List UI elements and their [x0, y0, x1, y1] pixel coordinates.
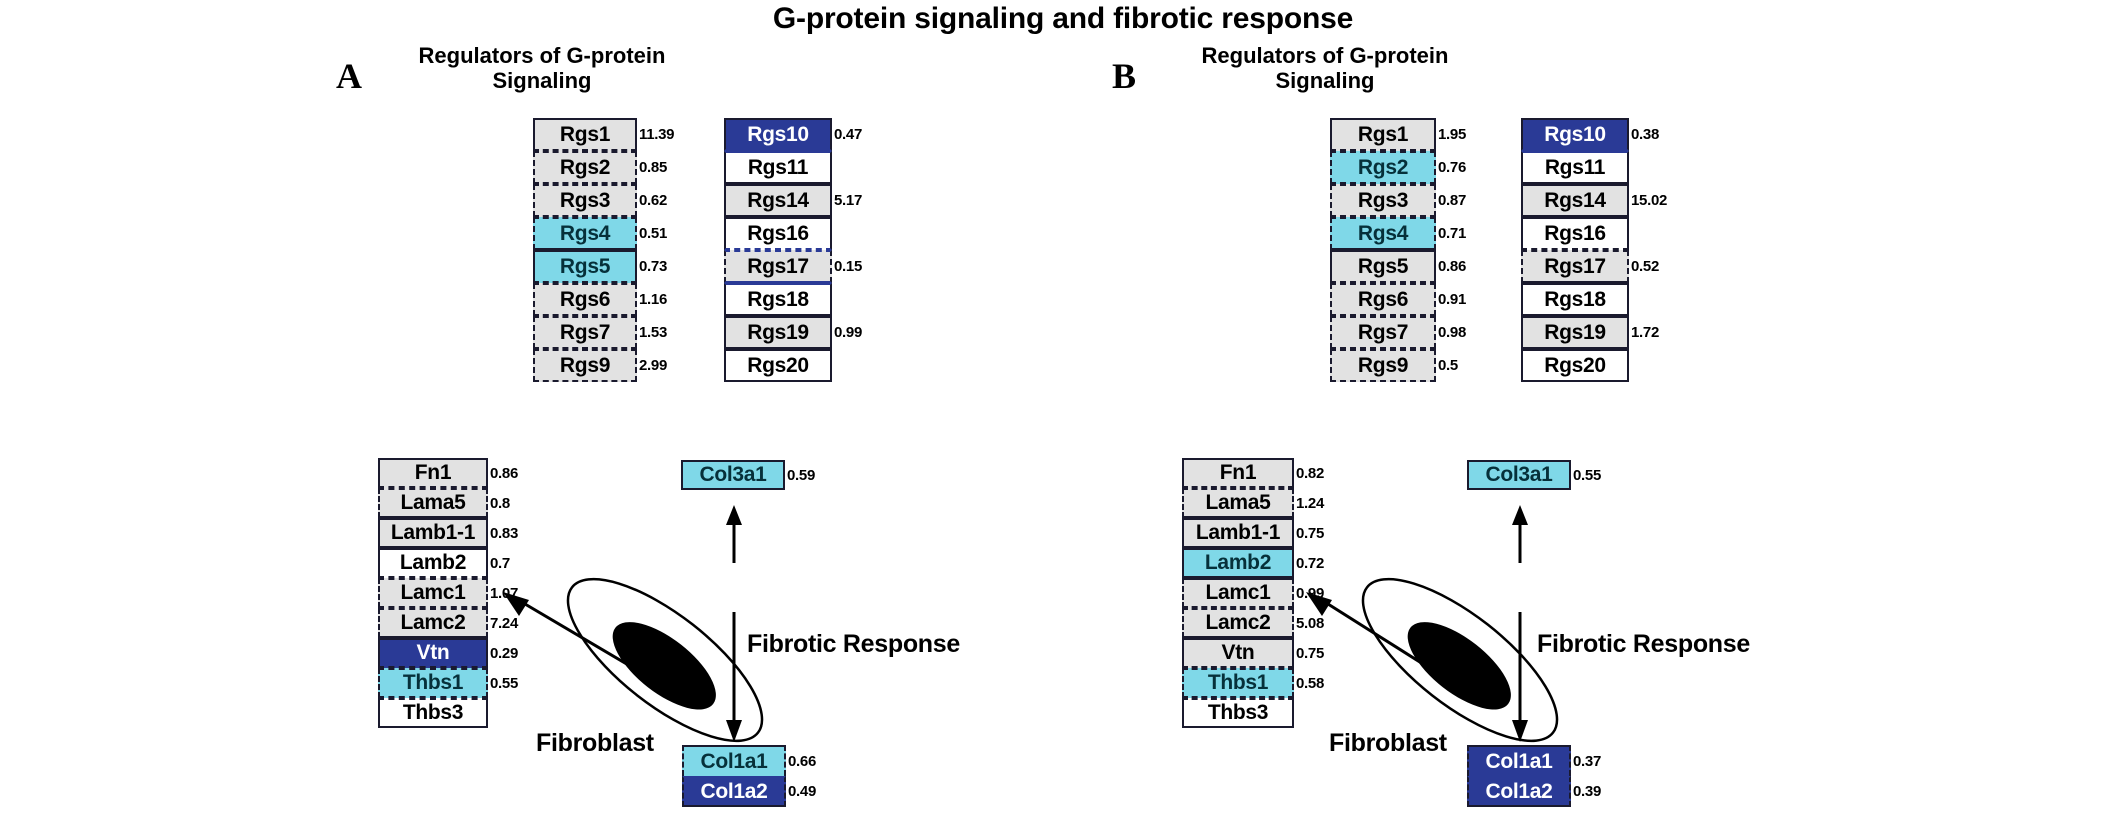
gene-value: 1.53 [639, 324, 667, 341]
gene-value: 1.24 [1296, 495, 1324, 512]
rgs-cell-rgs5: Rgs50.86 [1330, 250, 1436, 283]
rgs-cell-rgs10: Rgs100.47 [724, 118, 832, 151]
gene-label: Rgs18 [747, 288, 809, 312]
gene-label: Lama5 [400, 491, 465, 515]
rgs-cell-rgs7: Rgs71.53 [533, 316, 637, 349]
gene-label: Rgs11 [748, 156, 808, 180]
col3a1-box-b: Col3a10.55 [1467, 460, 1571, 490]
gene-label: Rgs6 [560, 288, 610, 312]
ecm-cell-lamc2: Lamc27.24 [378, 608, 488, 638]
gene-label: Rgs11 [1545, 156, 1605, 180]
ecm-cell-lama5: Lama50.8 [378, 488, 488, 518]
arrow-to-ecm-b [1300, 588, 1450, 683]
gene-label: Lamc2 [1205, 611, 1270, 635]
gene-value: 0.72 [1296, 555, 1324, 572]
gene-label: Lamb2 [400, 551, 466, 575]
ecm-cell-lamb2: Lamb20.7 [378, 548, 488, 578]
gene-value: 0.99 [834, 324, 862, 341]
ecm-cell-vtn: Vtn0.29 [378, 638, 488, 668]
panel-label-a: A [336, 55, 362, 97]
gene-value: 1.16 [639, 291, 667, 308]
rgs-cell-rgs3: Rgs30.62 [533, 184, 637, 217]
rgs-cell-rgs20: Rgs20 [1521, 349, 1629, 382]
ecm-cell-vtn: Vtn0.75 [1182, 638, 1294, 668]
rgs-cell-rgs11: Rgs11 [724, 151, 832, 184]
gene-value: 0.66 [788, 753, 816, 770]
rgs-cell-rgs19: Rgs190.99 [724, 316, 832, 349]
ecm-cell-thbs1: Thbs10.55 [378, 668, 488, 698]
gene-value: 5.17 [834, 192, 862, 209]
ecm-cell-thbs1: Thbs10.58 [1182, 668, 1294, 698]
rgs-cell-rgs1: Rgs111.39 [533, 118, 637, 151]
gene-label: Rgs1 [560, 123, 610, 147]
collagen-cell-col3a1: Col3a10.55 [1467, 460, 1571, 490]
gene-label: Rgs10 [747, 123, 809, 147]
gene-value: 0.85 [639, 159, 667, 176]
arrow-to-col1-b [1502, 612, 1538, 742]
gene-label: Fn1 [1220, 461, 1256, 485]
rgs-cell-rgs18: Rgs18 [1521, 283, 1629, 316]
rgs-cell-rgs10: Rgs100.38 [1521, 118, 1629, 151]
gene-value: 0.83 [490, 525, 518, 542]
gene-value: 0.52 [1631, 258, 1659, 275]
gene-label: Thbs1 [1208, 671, 1268, 695]
gene-value: 0.5 [1438, 357, 1458, 374]
gene-label: Rgs4 [560, 222, 610, 246]
gene-label: Lamb2 [1205, 551, 1271, 575]
panel-label-b: B [1112, 55, 1136, 97]
rgs-cell-rgs5: Rgs50.73 [533, 250, 637, 283]
ecm-cell-thbs3: Thbs3 [1182, 698, 1294, 728]
rgs-cell-rgs19: Rgs191.72 [1521, 316, 1629, 349]
ecm-cell-lamb2: Lamb20.72 [1182, 548, 1294, 578]
gene-label: Lamc1 [1205, 581, 1270, 605]
rgs-cell-rgs9: Rgs90.5 [1330, 349, 1436, 382]
ecm-cell-fn1: Fn10.86 [378, 458, 488, 488]
gene-value: 0.7 [490, 555, 510, 572]
gene-label: Rgs1 [1358, 123, 1408, 147]
arrow-to-col3a1-b [1502, 505, 1538, 565]
gene-label: Rgs14 [1544, 189, 1606, 213]
gene-label: Col3a1 [699, 463, 766, 487]
gene-label: Fn1 [415, 461, 451, 485]
gene-label: Rgs10 [1544, 123, 1606, 147]
gene-label: Rgs16 [1544, 222, 1606, 246]
rgs-left-column-b: Rgs11.95Rgs20.76Rgs30.87Rgs40.71Rgs50.86… [1330, 118, 1436, 382]
ecm-cell-lama5: Lama51.24 [1182, 488, 1294, 518]
gene-label: Rgs19 [1544, 321, 1606, 345]
gene-label: Vtn [1222, 641, 1255, 665]
gene-value: 0.73 [639, 258, 667, 275]
gene-label: Thbs1 [403, 671, 463, 695]
figure-title: G-protein signaling and fibrotic respons… [0, 2, 2126, 36]
fibroblast-label-b: Fibroblast [1329, 729, 1447, 758]
rgs-cell-rgs1: Rgs11.95 [1330, 118, 1436, 151]
gene-value: 0.71 [1438, 225, 1466, 242]
arrow-to-ecm-a [497, 588, 657, 683]
fibrotic-response-label-b: Fibrotic Response [1537, 630, 1750, 659]
gene-value: 0.86 [490, 465, 518, 482]
gene-label: Rgs16 [747, 222, 809, 246]
gene-label: Lamc2 [400, 611, 465, 635]
rgs-left-column-a: Rgs111.39Rgs20.85Rgs30.62Rgs40.51Rgs50.7… [533, 118, 637, 382]
fibrotic-response-label-a: Fibrotic Response [747, 630, 960, 659]
rgs-heading-line2: Signaling [377, 69, 707, 94]
gene-value: 0.59 [787, 467, 815, 484]
gene-label: Col1a2 [700, 780, 767, 804]
gene-value: 0.8 [490, 495, 510, 512]
ecm-cell-thbs3: Thbs3 [378, 698, 488, 728]
gene-label: Rgs14 [747, 189, 809, 213]
rgs-cell-rgs16: Rgs16 [1521, 217, 1629, 250]
gene-label: Rgs19 [747, 321, 809, 345]
gene-value: 1.95 [1438, 126, 1466, 143]
gene-label: Thbs3 [403, 701, 463, 725]
rgs-cell-rgs14: Rgs145.17 [724, 184, 832, 217]
gene-label: Rgs5 [1358, 255, 1408, 279]
rgs-cell-rgs2: Rgs20.76 [1330, 151, 1436, 184]
gene-value: 0.82 [1296, 465, 1324, 482]
ecm-cell-lamb1-1: Lamb1-10.83 [378, 518, 488, 548]
gene-value: 0.15 [834, 258, 862, 275]
fibroblast-label-a: Fibroblast [536, 729, 654, 758]
gene-value: 0.87 [1438, 192, 1466, 209]
gene-label: Rgs17 [747, 255, 809, 279]
rgs-right-column-b: Rgs100.38Rgs11Rgs1415.02Rgs16Rgs170.52Rg… [1521, 118, 1629, 382]
col3a1-box-a: Col3a10.59 [681, 460, 785, 490]
gene-value: 0.98 [1438, 324, 1466, 341]
gene-label: Rgs2 [1358, 156, 1408, 180]
rgs-heading-line1: Regulators of G-protein [377, 44, 707, 69]
gene-label: Rgs20 [747, 354, 809, 378]
gene-value: 0.51 [639, 225, 667, 242]
gene-label: Vtn [417, 641, 450, 665]
gene-value: 0.47 [834, 126, 862, 143]
gene-label: Lama5 [1205, 491, 1270, 515]
rgs-cell-rgs6: Rgs61.16 [533, 283, 637, 316]
gene-label: Rgs17 [1544, 255, 1606, 279]
gene-value: 0.38 [1631, 126, 1659, 143]
gene-value: 0.75 [1296, 525, 1324, 542]
gene-label: Rgs7 [560, 321, 610, 345]
rgs-cell-rgs18: Rgs18 [724, 283, 832, 316]
gene-label: Col1a2 [1485, 780, 1552, 804]
collagen-cell-col1a2: Col1a20.49 [682, 776, 786, 807]
gene-value: 0.55 [1573, 467, 1601, 484]
rgs-cell-rgs17: Rgs170.52 [1521, 250, 1629, 283]
rgs-right-column-a: Rgs100.47Rgs11Rgs145.17Rgs16Rgs170.15Rgs… [724, 118, 832, 382]
gene-label: Rgs4 [1358, 222, 1408, 246]
gene-label: Rgs5 [560, 255, 610, 279]
gene-label: Rgs3 [1358, 189, 1408, 213]
gene-value: 0.62 [639, 192, 667, 209]
rgs-cell-rgs17: Rgs170.15 [724, 250, 832, 283]
gene-value: 1.72 [1631, 324, 1659, 341]
gene-label: Rgs18 [1544, 288, 1606, 312]
arrow-to-col3a1-a [716, 505, 752, 565]
rgs-cell-rgs11: Rgs11 [1521, 151, 1629, 184]
rgs-cell-rgs16: Rgs16 [724, 217, 832, 250]
rgs-cell-rgs6: Rgs60.91 [1330, 283, 1436, 316]
rgs-cell-rgs20: Rgs20 [724, 349, 832, 382]
rgs-cell-rgs3: Rgs30.87 [1330, 184, 1436, 217]
gene-label: Rgs20 [1544, 354, 1606, 378]
gene-label: Thbs3 [1208, 701, 1268, 725]
gene-label: Lamb1-1 [391, 521, 475, 545]
gene-label: Lamb1-1 [1196, 521, 1280, 545]
gene-label: Col3a1 [1485, 463, 1552, 487]
rgs-cell-rgs14: Rgs1415.02 [1521, 184, 1629, 217]
rgs-heading-line1: Regulators of G-protein [1160, 44, 1490, 69]
gene-value: 0.49 [788, 783, 816, 800]
gene-value: 11.39 [639, 126, 674, 143]
gene-label: Lamc1 [400, 581, 465, 605]
rgs-heading-b: Regulators of G-protein Signaling [1160, 44, 1490, 93]
rgs-cell-rgs9: Rgs92.99 [533, 349, 637, 382]
ecm-cell-lamc2: Lamc25.08 [1182, 608, 1294, 638]
collagen-cell-col1a2: Col1a20.39 [1467, 776, 1571, 807]
rgs-cell-rgs4: Rgs40.71 [1330, 217, 1436, 250]
gene-value: 0.76 [1438, 159, 1466, 176]
ecm-cell-lamc1: Lamc10.99 [1182, 578, 1294, 608]
ecm-cell-lamc1: Lamc11.07 [378, 578, 488, 608]
rgs-cell-rgs7: Rgs70.98 [1330, 316, 1436, 349]
rgs-heading-a: Regulators of G-protein Signaling [377, 44, 707, 93]
rgs-heading-line2: Signaling [1160, 69, 1490, 94]
gene-label: Rgs9 [560, 354, 610, 378]
gene-value: 0.91 [1438, 291, 1466, 308]
gene-value: 0.86 [1438, 258, 1466, 275]
ecm-cell-fn1: Fn10.82 [1182, 458, 1294, 488]
ecm-column-a: Fn10.86Lama50.8Lamb1-10.83Lamb20.7Lamc11… [378, 458, 488, 728]
ecm-column-b: Fn10.82Lama51.24Lamb1-10.75Lamb20.72Lamc… [1182, 458, 1294, 728]
gene-label: Rgs9 [1358, 354, 1408, 378]
gene-label: Rgs3 [560, 189, 610, 213]
gene-label: Rgs7 [1358, 321, 1408, 345]
rgs-cell-rgs2: Rgs20.85 [533, 151, 637, 184]
gene-label: Rgs2 [560, 156, 610, 180]
rgs-cell-rgs4: Rgs40.51 [533, 217, 637, 250]
gene-value: 2.99 [639, 357, 667, 374]
gene-value: 0.39 [1573, 783, 1601, 800]
collagen-cell-col3a1: Col3a10.59 [681, 460, 785, 490]
gene-value: 15.02 [1631, 192, 1667, 209]
gene-label: Rgs6 [1358, 288, 1408, 312]
ecm-cell-lamb1-1: Lamb1-10.75 [1182, 518, 1294, 548]
